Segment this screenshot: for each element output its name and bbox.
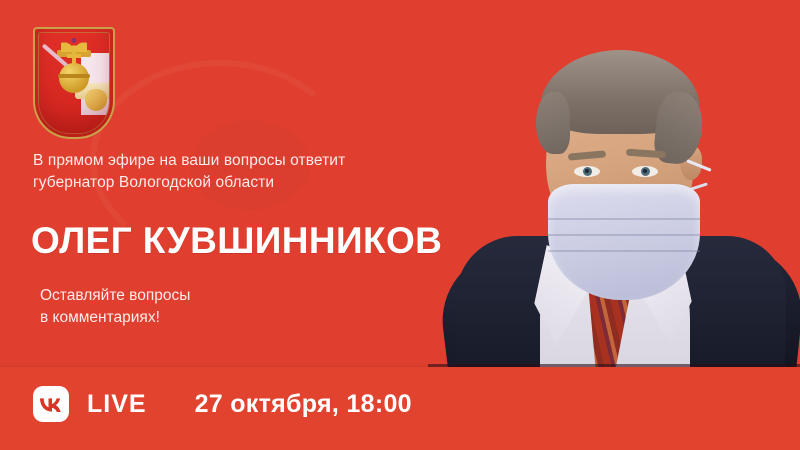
vologda-oblast-coat-of-arms-icon (33, 27, 115, 139)
vk-logo-icon[interactable] (33, 386, 69, 422)
governor-portrait-photo (428, 0, 800, 367)
intro-text: В прямом эфире на ваши вопросы ответит г… (33, 150, 463, 194)
broadcast-datetime: 27 октября, 18:00 (195, 390, 412, 419)
live-label: LIVE (87, 390, 147, 419)
cta-line-2: в комментариях! (40, 307, 320, 329)
intro-line-2: губернатор Вологодской области (33, 172, 463, 194)
vk-live-announcement-banner: В прямом эфире на ваши вопросы ответит г… (0, 0, 800, 450)
cta-line-1: Оставляйте вопросы (40, 285, 320, 307)
intro-line-1: В прямом эфире на ваши вопросы ответит (33, 150, 463, 172)
page-title: ОЛЕГ КУВШИННИКОВ (31, 222, 442, 259)
bottom-bar: LIVE 27 октября, 18:00 (33, 384, 412, 424)
cta-text: Оставляйте вопросы в комментариях! (40, 285, 320, 330)
